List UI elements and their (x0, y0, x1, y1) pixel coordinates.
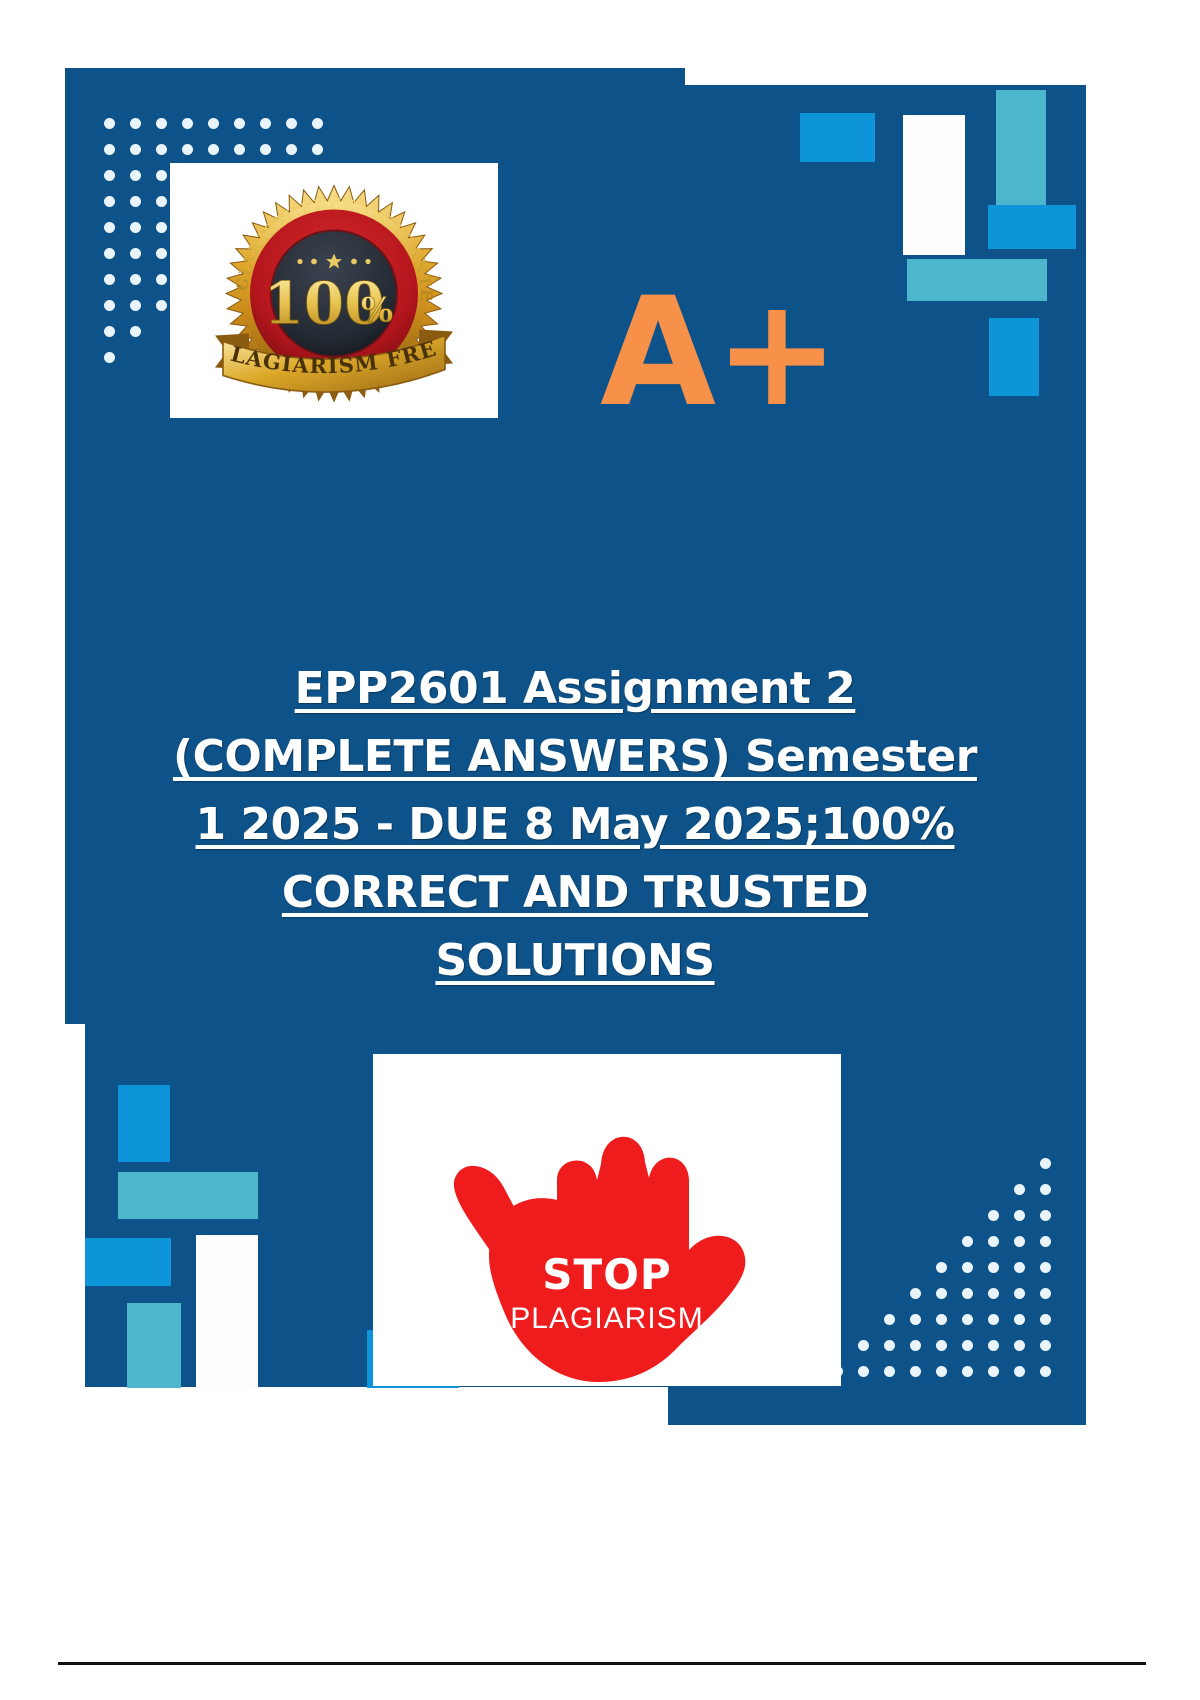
deco-rect-blue-b (988, 205, 1076, 249)
decorative-dot (1040, 1314, 1051, 1325)
title-line-2: (COMPLETE ANSWERS) Semester (70, 723, 1080, 791)
deco-rect-blue-d (118, 1085, 170, 1162)
decorative-dot (1014, 1262, 1025, 1273)
decorative-dot (988, 1366, 999, 1377)
deco-rect-blue-a (800, 113, 875, 162)
deco-rect-blue-c (989, 318, 1039, 396)
decorative-dot (208, 118, 219, 129)
decorative-dot (104, 118, 115, 129)
decorative-dot (988, 1210, 999, 1221)
decorative-dot (1014, 1314, 1025, 1325)
decorative-dot (104, 144, 115, 155)
decorative-dot (1014, 1236, 1025, 1247)
decorative-dot (130, 300, 141, 311)
decorative-dot (1040, 1366, 1051, 1377)
decorative-dot (988, 1262, 999, 1273)
decorative-dot (1014, 1184, 1025, 1195)
decorative-dot (1040, 1184, 1051, 1195)
decorative-dot (884, 1314, 895, 1325)
stop-label: STOP (373, 1250, 841, 1299)
decorative-dot (858, 1340, 869, 1351)
decorative-dot (208, 144, 219, 155)
decorative-dot (1040, 1210, 1051, 1221)
decorative-dot (1040, 1236, 1051, 1247)
deco-rect-white-b (196, 1235, 258, 1388)
decorative-dot (910, 1366, 921, 1377)
decorative-dot (156, 300, 167, 311)
decorative-dot (156, 274, 167, 285)
decorative-dot (910, 1340, 921, 1351)
decorative-dot (1040, 1158, 1051, 1169)
decorative-dot (936, 1340, 947, 1351)
decorative-dot (156, 144, 167, 155)
decorative-dot (156, 248, 167, 259)
deco-rect-teal-c (118, 1172, 258, 1219)
stop-hand-icon (397, 1060, 817, 1386)
decorative-dot (130, 196, 141, 207)
decorative-dot (182, 118, 193, 129)
decorative-dot (130, 170, 141, 181)
decorative-dot (260, 144, 271, 155)
decorative-dot (1014, 1210, 1025, 1221)
decorative-dot (1040, 1340, 1051, 1351)
decorative-dot (130, 222, 141, 233)
deco-rect-teal-b (907, 259, 1047, 301)
deco-rect-teal-d (127, 1303, 181, 1388)
deco-rect-teal-a (996, 90, 1046, 218)
decorative-dot (988, 1288, 999, 1299)
decorative-dot (936, 1314, 947, 1325)
decorative-dot (1014, 1340, 1025, 1351)
decorative-dot (130, 118, 141, 129)
decorative-dot (156, 196, 167, 207)
decorative-dot (884, 1340, 895, 1351)
decorative-dot (962, 1366, 973, 1377)
deco-rect-white-a (903, 115, 965, 255)
decorative-dot (130, 248, 141, 259)
stop-plagiarism-image: STOP PLAGIARISM (373, 1054, 841, 1386)
plagiarism-free-badge: PLAGIARISM FREE GUARANTEED 100 % PLAGIAR… (170, 163, 498, 418)
page-title: EPP2601 Assignment 2 (COMPLETE ANSWERS) … (70, 655, 1080, 995)
decorative-dot (1014, 1366, 1025, 1377)
decorative-dot (104, 170, 115, 181)
title-line-5: SOLUTIONS (70, 927, 1080, 995)
decorative-dot (234, 144, 245, 155)
decorative-dot (1014, 1288, 1025, 1299)
decorative-dot (988, 1340, 999, 1351)
decorative-dot (104, 274, 115, 285)
decorative-dot (104, 352, 115, 363)
decorative-dot (962, 1262, 973, 1273)
decorative-dot (182, 144, 193, 155)
decorative-dot (156, 118, 167, 129)
decorative-dot (130, 326, 141, 337)
decorative-dot (858, 1366, 869, 1377)
title-line-4: CORRECT AND TRUSTED (70, 859, 1080, 927)
decorative-dot (286, 144, 297, 155)
decorative-dot (286, 118, 297, 129)
decorative-dot (104, 222, 115, 233)
plagiarism-label: PLAGIARISM (373, 1302, 841, 1336)
decorative-dot (1040, 1288, 1051, 1299)
decorative-dot (962, 1236, 973, 1247)
decorative-dot (936, 1288, 947, 1299)
decorative-dot (936, 1366, 947, 1377)
decorative-dot (988, 1236, 999, 1247)
title-line-1: EPP2601 Assignment 2 (70, 655, 1080, 723)
decorative-dot (104, 326, 115, 337)
document-page: PLAGIARISM FREE GUARANTEED 100 % PLAGIAR… (0, 0, 1200, 1700)
decorative-dot (130, 144, 141, 155)
footer-divider (58, 1662, 1146, 1665)
decorative-dot (962, 1340, 973, 1351)
decorative-dot (104, 300, 115, 311)
decorative-dot (910, 1288, 921, 1299)
svg-text:%: % (361, 290, 393, 330)
decorative-dot (988, 1314, 999, 1325)
decorative-dot (1040, 1262, 1051, 1273)
decorative-dot (936, 1262, 947, 1273)
deco-rect-blue-e (85, 1238, 171, 1286)
decorative-dot (962, 1288, 973, 1299)
plagiarism-free-seal-icon: PLAGIARISM FREE GUARANTEED 100 % PLAGIAR… (209, 183, 459, 408)
decorative-dot (312, 118, 323, 129)
decorative-dot (156, 222, 167, 233)
decorative-dot (884, 1366, 895, 1377)
decorative-dot (234, 118, 245, 129)
decorative-dot (156, 170, 167, 181)
title-line-3: 1 2025 - DUE 8 May 2025;100% (70, 791, 1080, 859)
decorative-dot (910, 1314, 921, 1325)
decorative-dot (130, 274, 141, 285)
decorative-dot (962, 1314, 973, 1325)
decorative-dot (260, 118, 271, 129)
decorative-dot (312, 144, 323, 155)
decorative-dot (104, 248, 115, 259)
decorative-dot (104, 196, 115, 207)
a-plus-mark: A+ (600, 278, 920, 438)
